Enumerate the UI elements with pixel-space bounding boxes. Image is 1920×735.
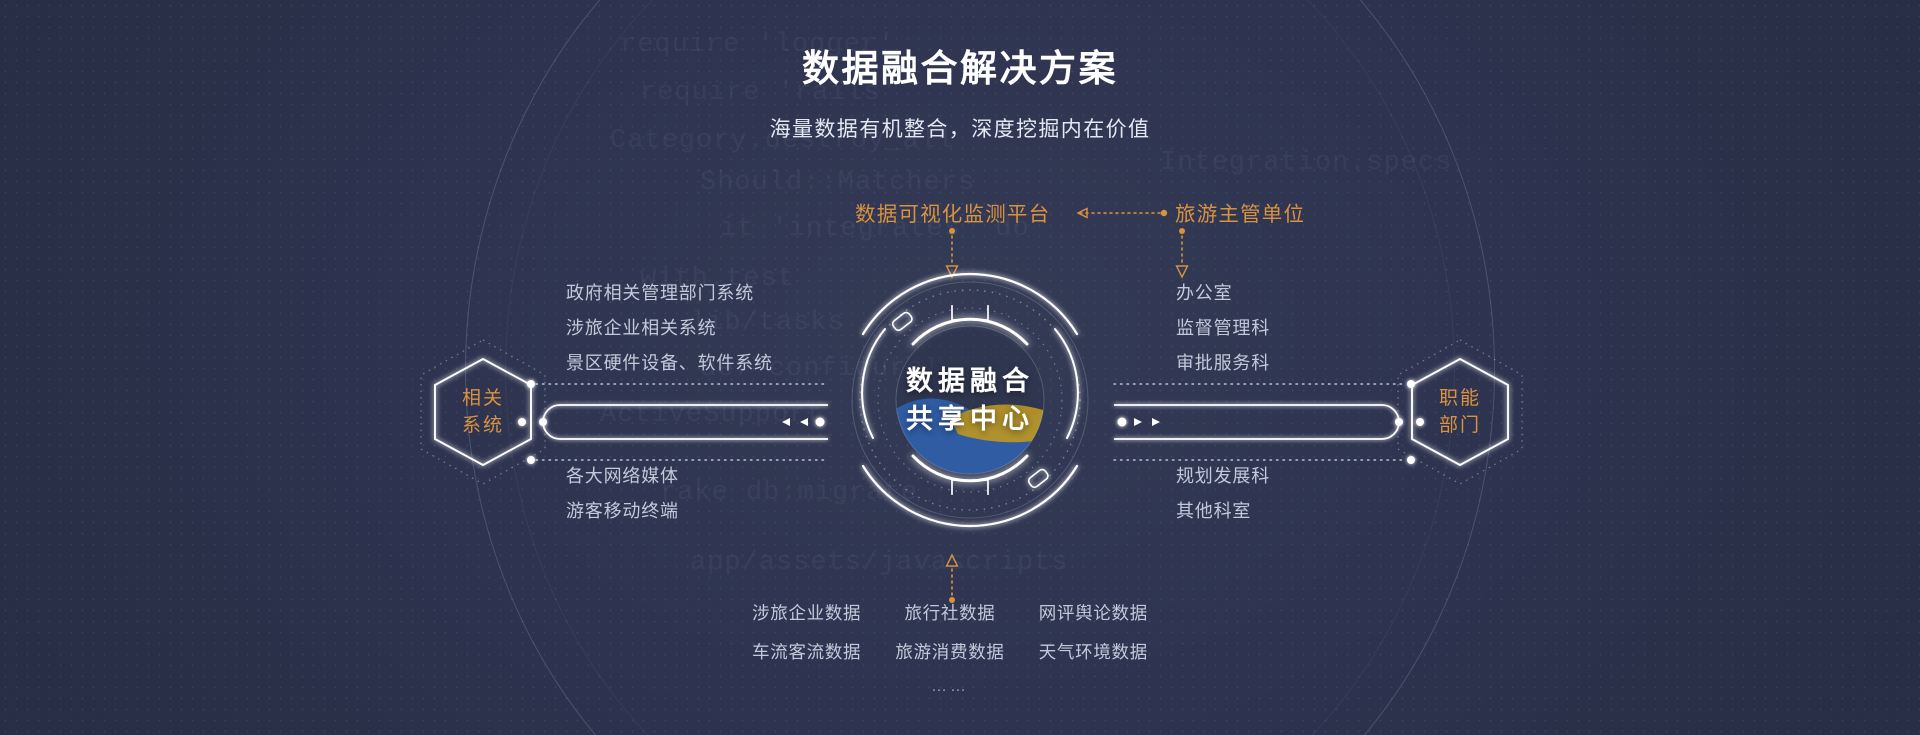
list-item: 网评舆论数据 bbox=[1022, 600, 1165, 625]
list-item: 涉旅企业相关系统 bbox=[566, 311, 773, 346]
core-title: 数据融合 共享中心 bbox=[838, 268, 1102, 532]
hexagon-functional-departments[interactable]: 职能 部门 bbox=[1385, 337, 1535, 487]
list-item: 其他科室 bbox=[1176, 494, 1270, 529]
right-top-label-group: 办公室 监督管理科 审批服务科 bbox=[1176, 276, 1270, 381]
connector-bottom-up bbox=[945, 555, 959, 603]
core-line-1: 数据融合 bbox=[906, 362, 1034, 400]
hexagon-outer-dotted bbox=[1398, 340, 1522, 484]
hexagon-inner-solid bbox=[1412, 359, 1508, 465]
left-top-label-group: 政府相关管理部门系统 涉旅企业相关系统 景区硬件设备、软件系统 bbox=[566, 276, 773, 381]
tag-tourism-authority[interactable]: 旅游主管单位 bbox=[1175, 197, 1305, 227]
hexagon-inner-solid bbox=[435, 359, 531, 465]
hexagon-related-systems[interactable]: 相关 系统 bbox=[408, 337, 558, 487]
list-item: 办公室 bbox=[1176, 276, 1270, 311]
top-link-arrow bbox=[1062, 207, 1172, 219]
list-item: 监督管理科 bbox=[1176, 311, 1270, 346]
connector-authority-down bbox=[1175, 228, 1189, 280]
list-item: 涉旅企业数据 bbox=[735, 600, 878, 625]
page-title: 数据融合解决方案 bbox=[0, 38, 1920, 92]
bottom-ellipsis: …… bbox=[735, 678, 1165, 696]
core-line-2: 共享中心 bbox=[906, 400, 1034, 438]
page-subtitle: 海量数据有机整合，深度挖掘内在价值 bbox=[0, 113, 1920, 143]
bottom-data-grid: 涉旅企业数据 旅行社数据 网评舆论数据 车流客流数据 旅游消费数据 天气环境数据 bbox=[735, 600, 1165, 664]
list-item: 游客移动终端 bbox=[566, 494, 679, 529]
list-item: 旅游消费数据 bbox=[878, 639, 1021, 664]
core-hub[interactable]: 数据融合 共享中心 bbox=[838, 268, 1102, 532]
list-item: 政府相关管理部门系统 bbox=[566, 276, 773, 311]
list-item: 天气环境数据 bbox=[1022, 639, 1165, 664]
page-header: 数据融合解决方案 海量数据有机整合，深度挖掘内在价值 bbox=[0, 38, 1920, 143]
tag-visualization-platform[interactable]: 数据可视化监测平台 bbox=[855, 197, 1050, 227]
hexagon-outer-dotted bbox=[421, 340, 545, 484]
right-connector-bus bbox=[1092, 372, 1422, 472]
list-item: 旅行社数据 bbox=[878, 600, 1021, 625]
list-item: 车流客流数据 bbox=[735, 639, 878, 664]
left-connector-bus bbox=[520, 372, 850, 472]
